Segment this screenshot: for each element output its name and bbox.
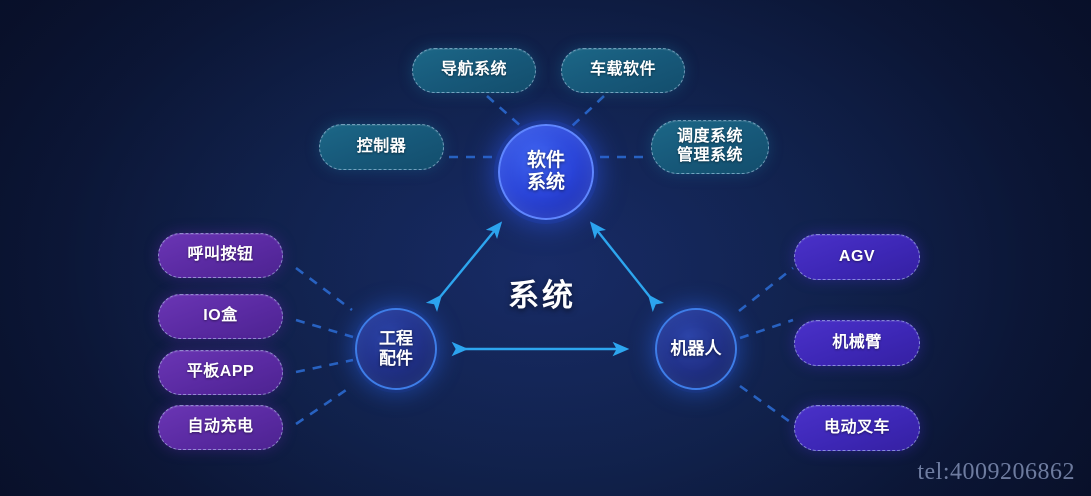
circle-robot[interactable]: 机器人 — [655, 308, 737, 390]
node-dispatch-management-system[interactable]: 调度系统 管理系统 — [651, 120, 769, 174]
node-label: 车载软件 — [590, 61, 656, 80]
hub-label-line2: 系统 — [527, 172, 565, 194]
circle-label: 机器人 — [671, 339, 722, 359]
node-vehicle-software[interactable]: 车载软件 — [561, 48, 685, 93]
circle-label-line1: 工程 — [379, 329, 413, 349]
node-label: 自动充电 — [187, 418, 253, 437]
diagram-canvas: 导航系统 车载软件 控制器 调度系统 管理系统 呼叫按钮 IO盒 平板APP 自… — [0, 0, 1091, 496]
node-label: 控制器 — [357, 138, 407, 157]
node-io-box[interactable]: IO盒 — [158, 294, 283, 339]
node-agv[interactable]: AGV — [794, 234, 920, 280]
dashed-connectors-right — [739, 268, 793, 424]
hub-circle-software-system[interactable]: 软件 系统 — [498, 124, 594, 220]
node-label: IO盒 — [203, 307, 237, 326]
node-label: 呼叫按钮 — [187, 246, 253, 265]
node-label: 平板APP — [187, 363, 254, 382]
center-title: 系统 — [508, 270, 576, 315]
hub-label-line1: 软件 — [527, 150, 565, 172]
node-electric-forklift[interactable]: 电动叉车 — [794, 405, 920, 451]
node-label: AGV — [839, 248, 875, 267]
dashed-connectors-left — [296, 268, 353, 424]
node-label-line1: 调度系统 — [677, 128, 743, 147]
node-controller[interactable]: 控制器 — [319, 124, 444, 170]
node-label: 导航系统 — [441, 61, 507, 80]
node-call-button[interactable]: 呼叫按钮 — [158, 233, 283, 278]
circle-engineering-parts[interactable]: 工程 配件 — [355, 308, 437, 390]
node-navigation-system[interactable]: 导航系统 — [412, 48, 536, 93]
node-robotic-arm[interactable]: 机械臂 — [794, 320, 920, 366]
node-label-line2: 管理系统 — [677, 147, 743, 166]
node-tablet-app[interactable]: 平板APP — [158, 350, 283, 395]
node-label: 机械臂 — [832, 334, 882, 353]
node-auto-charging[interactable]: 自动充电 — [158, 405, 283, 450]
node-label: 电动叉车 — [824, 419, 890, 438]
watermark-phone: tel:4009206862 — [917, 459, 1075, 486]
circle-label-line2: 配件 — [379, 349, 413, 369]
